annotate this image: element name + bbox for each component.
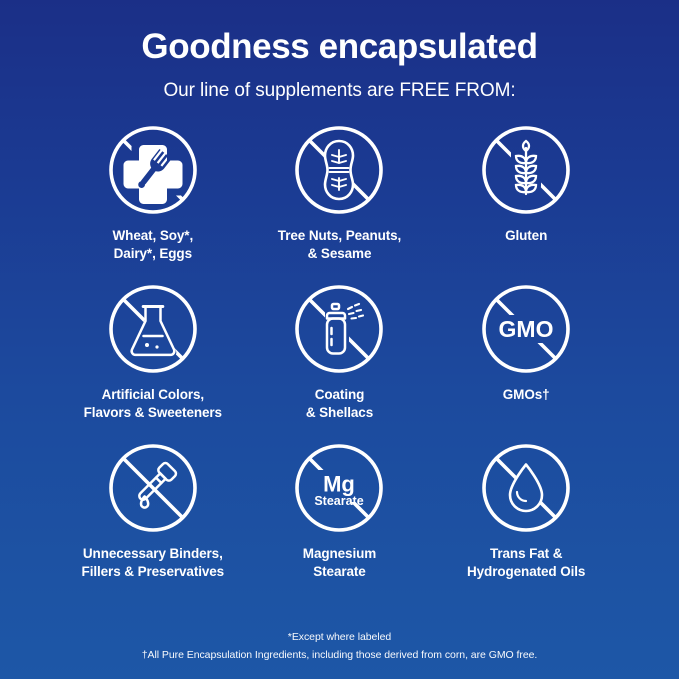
oil-droplet-icon [480,442,572,534]
free-from-item-label: Gluten [505,227,547,245]
free-from-item-label: Tree Nuts, Peanuts, & Sesame [278,227,401,263]
free-from-item: Trans Fat & Hydrogenated Oils [433,442,620,597]
header: Goodness encapsulated Our line of supple… [0,0,679,102]
footnote-asterisk: *Except where labeled [0,629,679,646]
wheat-stalk-icon [480,124,572,216]
mg-inner-text: Mg [324,471,356,496]
free-from-item: Coating & Shellacs [246,283,433,438]
free-from-item-label: Trans Fat & Hydrogenated Oils [467,545,585,581]
erlenmeyer-flask-icon [107,283,199,375]
free-from-item: GMO GMOs† [433,283,620,438]
free-from-item-label: Artificial Colors, Flavors & Sweeteners [84,386,222,422]
free-from-item-label: Unnecessary Binders, Fillers & Preservat… [82,545,225,581]
free-from-item: Gluten [433,124,620,279]
free-from-item: Unnecessary Binders, Fillers & Preservat… [60,442,247,597]
gmo-text-icon: GMO [480,283,572,375]
poster-root: Goodness encapsulated Our line of supple… [0,0,679,679]
fork-in-medical-cross-icon [107,124,199,216]
page-subtitle: Our line of supplements are FREE FROM: [0,80,679,102]
page-title: Goodness encapsulated [0,28,679,67]
free-from-item-label: GMOs† [503,386,550,404]
free-from-grid: Wheat, Soy*, Dairy*, Eggs [60,124,620,597]
free-from-item-label: Coating & Shellacs [306,386,373,422]
spray-can-icon [293,283,385,375]
footnotes: *Except where labeled †All Pure Encapsul… [0,629,679,664]
free-from-item: Wheat, Soy*, Dairy*, Eggs [60,124,247,279]
gmo-inner-text: GMO [499,316,554,342]
free-from-item: Tree Nuts, Peanuts, & Sesame [246,124,433,279]
mg-stearate-text-icon: Mg Stearate [293,442,385,534]
free-from-item: Artificial Colors, Flavors & Sweeteners [60,283,247,438]
eyedropper-icon [107,442,199,534]
stearate-inner-text: Stearate [315,494,364,508]
peanut-icon [293,124,385,216]
free-from-item: Mg Stearate Magnesium Stearate [246,442,433,597]
footnote-dagger: †All Pure Encapsulation Ingredients, inc… [0,647,679,664]
free-from-item-label: Wheat, Soy*, Dairy*, Eggs [113,227,194,263]
free-from-item-label: Magnesium Stearate [303,545,376,581]
